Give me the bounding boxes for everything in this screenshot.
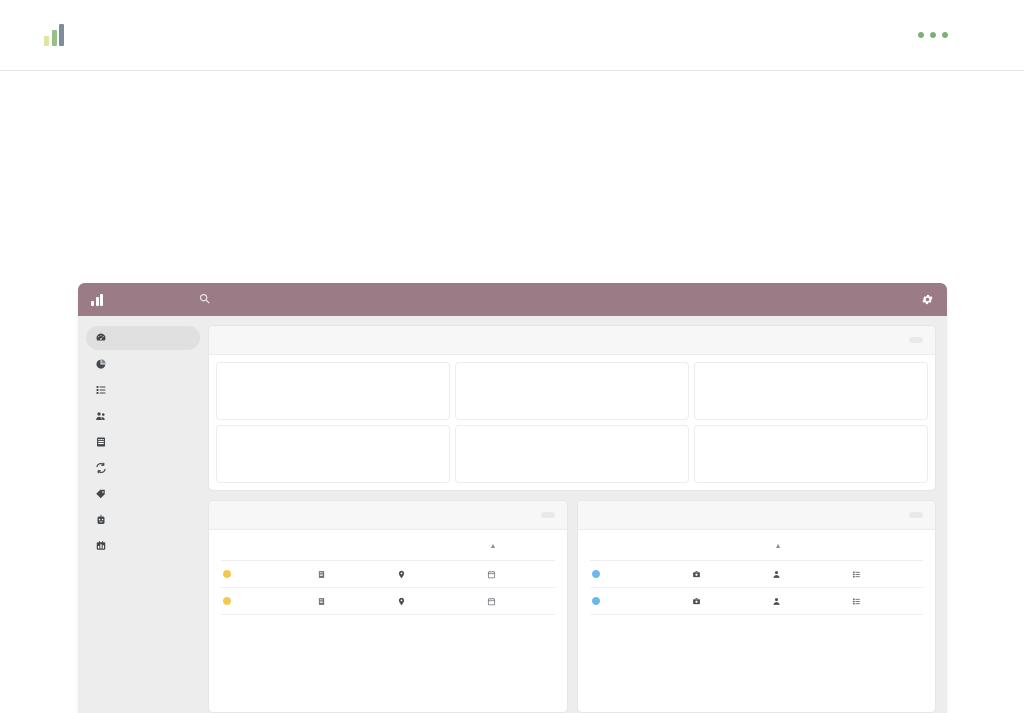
column-header-account[interactable]	[590, 530, 690, 561]
gear-icon[interactable]	[921, 293, 934, 306]
sidebar-item-events[interactable]	[86, 378, 200, 402]
column-header-country[interactable]	[394, 530, 484, 561]
signup-trials-table-wrap: ▲	[209, 530, 567, 615]
building-icon	[95, 436, 107, 448]
sparkline-mrr	[704, 383, 918, 419]
sparkline-active-users	[465, 446, 679, 482]
active-users-badge	[909, 337, 923, 343]
calendar-icon	[486, 596, 496, 606]
column-header-account[interactable]	[314, 530, 394, 561]
metric-tile-conversions[interactable]	[455, 362, 689, 420]
cell-user	[221, 561, 314, 588]
sparkline-trial-user-activity	[226, 446, 440, 482]
sidebar-item-accounts[interactable]	[86, 430, 200, 454]
metric-tile-trial-user-activity[interactable]	[216, 425, 450, 483]
brand-logo[interactable]	[44, 24, 73, 46]
person-icon	[772, 596, 782, 606]
ellipsis-icon[interactable]	[916, 28, 950, 42]
calendar-icon	[486, 569, 496, 579]
table-header-row: ▲	[590, 530, 924, 561]
metric-tile-active-users[interactable]	[455, 425, 689, 483]
active-customers-table: ▲	[590, 530, 924, 615]
sparkline-signups	[226, 383, 440, 419]
cell-created	[484, 561, 554, 588]
cell-sessions	[850, 561, 923, 588]
building-icon	[316, 596, 326, 606]
table-row[interactable]	[590, 561, 924, 588]
metrics-card-header	[209, 326, 935, 355]
table-row[interactable]	[221, 561, 555, 588]
metric-tile-canceled[interactable]	[694, 425, 928, 483]
table-row[interactable]	[590, 588, 924, 615]
refresh-icon	[95, 462, 107, 474]
metric-tile-signups[interactable]	[216, 362, 450, 420]
signup-trials-header	[209, 501, 567, 530]
list-icon	[95, 384, 107, 396]
cell-sessions	[850, 588, 923, 615]
signup-trials-count-badge	[541, 512, 555, 518]
active-customers-card: ▲	[577, 500, 937, 713]
search-icon	[199, 291, 210, 309]
pie-chart-icon	[95, 358, 107, 370]
money-icon	[692, 569, 702, 579]
sidebar-item-segments[interactable]	[86, 352, 200, 376]
sidebar-item-metrics[interactable]	[86, 534, 200, 558]
app-topbar	[78, 283, 947, 316]
bar-chart-logo-icon	[44, 24, 64, 46]
cell-user	[221, 588, 314, 615]
cell-country	[394, 588, 484, 615]
sidebar-item-plans[interactable]	[86, 482, 200, 506]
app-body: ▲	[78, 316, 947, 713]
column-header-sessions[interactable]	[850, 530, 923, 561]
cell-account	[590, 588, 690, 615]
sort-ascending-icon: ▲	[775, 543, 782, 550]
metrics-card	[208, 325, 936, 491]
column-header-last-seen[interactable]: ▲	[770, 530, 850, 561]
main-nav	[814, 28, 984, 42]
active-customers-count-badge	[909, 512, 923, 518]
metrics-icon	[95, 540, 107, 552]
column-header-user[interactable]	[221, 530, 314, 561]
status-dot	[223, 570, 231, 578]
money-icon	[692, 596, 702, 606]
tag-icon	[95, 488, 107, 500]
metric-tile-mrr[interactable]	[694, 362, 928, 420]
signup-trials-card: ▲	[208, 500, 568, 713]
sparkline-conversions	[465, 383, 679, 419]
column-header-created[interactable]: ▲	[484, 530, 554, 561]
cell-account	[590, 561, 690, 588]
cell-last-seen	[770, 588, 850, 615]
app-sidebar	[78, 316, 208, 713]
app-mockup-window: ▲	[78, 283, 947, 713]
hero-section	[0, 71, 1024, 134]
speedometer-icon	[95, 332, 107, 344]
cell-monthly	[690, 561, 770, 588]
sidebar-item-subscriptions[interactable]	[86, 456, 200, 480]
sidebar-item-automation[interactable]	[86, 508, 200, 532]
cell-account	[314, 588, 394, 615]
map-pin-icon	[396, 569, 406, 579]
cell-last-seen	[770, 561, 850, 588]
list-icon	[852, 596, 862, 606]
cell-monthly	[690, 588, 770, 615]
map-pin-icon	[396, 596, 406, 606]
table-row[interactable]	[221, 588, 555, 615]
sort-ascending-icon: ▲	[489, 543, 496, 550]
status-dot	[592, 597, 600, 605]
active-customers-header	[578, 501, 936, 530]
signup-trials-table: ▲	[221, 530, 555, 615]
bar-chart-icon	[91, 294, 103, 306]
cell-account	[314, 561, 394, 588]
robot-icon	[95, 514, 107, 526]
active-customers-table-wrap: ▲	[578, 530, 936, 615]
metric-grid	[209, 355, 935, 490]
cell-created	[484, 588, 554, 615]
status-dot	[223, 597, 231, 605]
person-icon	[772, 569, 782, 579]
sidebar-item-users[interactable]	[86, 404, 200, 428]
users-icon	[95, 410, 107, 422]
list-icon	[852, 569, 862, 579]
tables-row: ▲	[208, 500, 936, 713]
status-dot	[592, 570, 600, 578]
sidebar-item-dashboard[interactable]	[86, 326, 200, 350]
table-header-row: ▲	[221, 530, 555, 561]
building-icon	[316, 569, 326, 579]
app-main: ▲	[208, 316, 947, 713]
column-header-monthly[interactable]	[690, 530, 770, 561]
cell-country	[394, 561, 484, 588]
sparkline-canceled	[704, 446, 918, 482]
search-input[interactable]	[199, 291, 217, 309]
site-header	[0, 0, 1024, 71]
